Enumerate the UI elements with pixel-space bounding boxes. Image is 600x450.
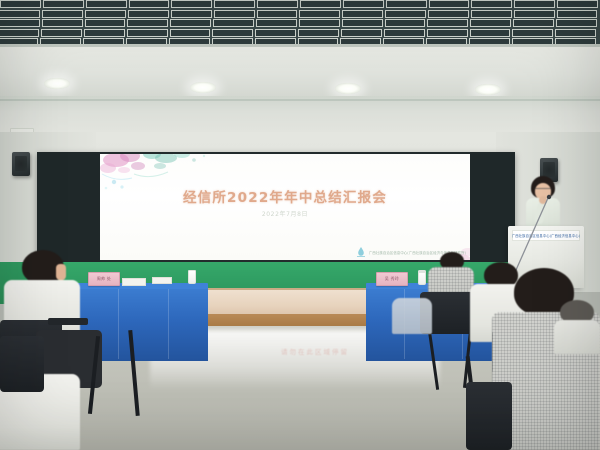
cup-left [188, 270, 196, 284]
ceiling-grid-cell [255, 29, 296, 37]
ceiling-grid-cell [427, 19, 468, 27]
audience-person-center [392, 288, 432, 334]
ceiling-grid-cell [300, 0, 341, 8]
person-torso [554, 320, 600, 354]
ceiling-grid-cell [470, 29, 511, 37]
ceiling-grid-cell [127, 19, 168, 27]
ceiling-grid-cell [213, 19, 254, 27]
ceiling-grid-cell [299, 10, 340, 18]
downlight-2 [190, 82, 216, 93]
ceiling-grid-cell [471, 10, 512, 18]
ceiling-grid-cell [512, 29, 553, 37]
ceiling-grid-cell [427, 29, 468, 37]
ceiling-grid-cell [386, 0, 427, 8]
chair-right-2 [466, 382, 512, 450]
ceiling-grid-cell [171, 0, 212, 8]
ceiling-grid-cell [128, 10, 169, 18]
name-card-right: 吴 秀玲 [376, 272, 408, 286]
ceiling-grid-cell [343, 0, 384, 8]
ceiling-grid-cell [0, 19, 40, 27]
ceiling-grid-cell [170, 19, 211, 27]
ceiling-grid-cell [85, 10, 126, 18]
ceiling-lower-plane [0, 96, 600, 136]
conference-room-photo: 经信所2022年年中总结汇报会 2022年7月8日 广西壮族自治区信息中心(广西… [0, 0, 600, 450]
ceiling-grid-cell [428, 10, 469, 18]
projection-screen: 经信所2022年年中总结汇报会 2022年7月8日 广西壮族自治区信息中心(广西… [37, 152, 515, 262]
ceiling-grid-cell [214, 10, 255, 18]
notebook-left [152, 277, 172, 284]
ceiling-grid-cell [513, 19, 554, 27]
ceiling-grid-cell [171, 10, 212, 18]
ceiling-grid-cell [470, 19, 511, 27]
slide-title: 经信所2022年年中总结汇报会 [100, 186, 470, 206]
ceiling-grid-cell [342, 19, 383, 27]
ceiling-grid-cell [257, 0, 298, 8]
document-left [122, 278, 146, 286]
ceiling-grid-cell [129, 0, 170, 8]
ceiling-grid-cell [557, 10, 598, 18]
ceiling-grid-cell [41, 29, 82, 37]
ceiling-grid-cell [256, 19, 297, 27]
ceiling-grid-cell [514, 0, 555, 8]
ceiling-grid-cell [555, 29, 596, 37]
ceiling-grid-cell [0, 10, 40, 18]
downlight-4 [475, 84, 501, 95]
ceiling-grid-cell [429, 0, 470, 8]
organization-logo-icon [356, 246, 366, 258]
ceiling-grid-cell [341, 29, 382, 37]
chair-left-2 [0, 336, 44, 392]
ceiling-seam [0, 99, 600, 101]
ceiling-grid-cell [0, 0, 41, 8]
ceiling-grid-cell [86, 0, 127, 8]
ceiling-grid-cell [212, 29, 253, 37]
name-card-left: 周帅 处 [88, 272, 120, 286]
ceiling-grid-cell [299, 19, 340, 27]
downlight-3 [335, 83, 361, 94]
ceiling-grid-cell [514, 10, 555, 18]
wall-speaker-left [12, 152, 30, 176]
name-card-left-text: 周帅 处 [97, 276, 111, 282]
slide-date: 2022年7月8日 [100, 209, 470, 218]
ceiling-grid-cell [471, 0, 512, 8]
ceiling-grid-cell [170, 29, 211, 37]
ceiling-grid-cell [42, 10, 83, 18]
ceiling-grid-cell [42, 19, 83, 27]
person-torso [392, 298, 432, 334]
ceiling-grid-cell [85, 19, 126, 27]
name-card-right-text: 吴 秀玲 [385, 276, 399, 282]
table-left-fold-1 [118, 289, 119, 359]
ceiling-grid-cell [0, 29, 39, 37]
ceiling-grid-cell [84, 29, 125, 37]
ceiling-grid-cell [257, 10, 298, 18]
ceiling-grid-cell [557, 0, 598, 8]
ceiling-grid-cell [298, 29, 339, 37]
person-face-profile [56, 264, 66, 280]
ceiling-grid-cell [127, 29, 168, 37]
chair-arm-left-1 [48, 318, 88, 325]
ceiling-grid-cell [214, 0, 255, 8]
ceiling-grid-cell [385, 19, 426, 27]
presentation-slide: 经信所2022年年中总结汇报会 2022年7月8日 广西壮族自治区信息中心(广西… [100, 154, 470, 260]
ceiling-grid-cell [385, 10, 426, 18]
screen-dark-border-left [37, 152, 100, 262]
ceiling-soffit [0, 44, 600, 98]
ceiling-open-cell-grid [0, 0, 600, 46]
audience-person-right-3 [556, 300, 600, 352]
downlight-1 [44, 78, 70, 89]
ceiling-grid-cell [384, 29, 425, 37]
ceiling-grid-cell [556, 19, 597, 27]
table-left-fold-2 [168, 289, 169, 359]
ceiling-grid-cell [43, 0, 84, 8]
ceiling-grid-cell [342, 10, 383, 18]
